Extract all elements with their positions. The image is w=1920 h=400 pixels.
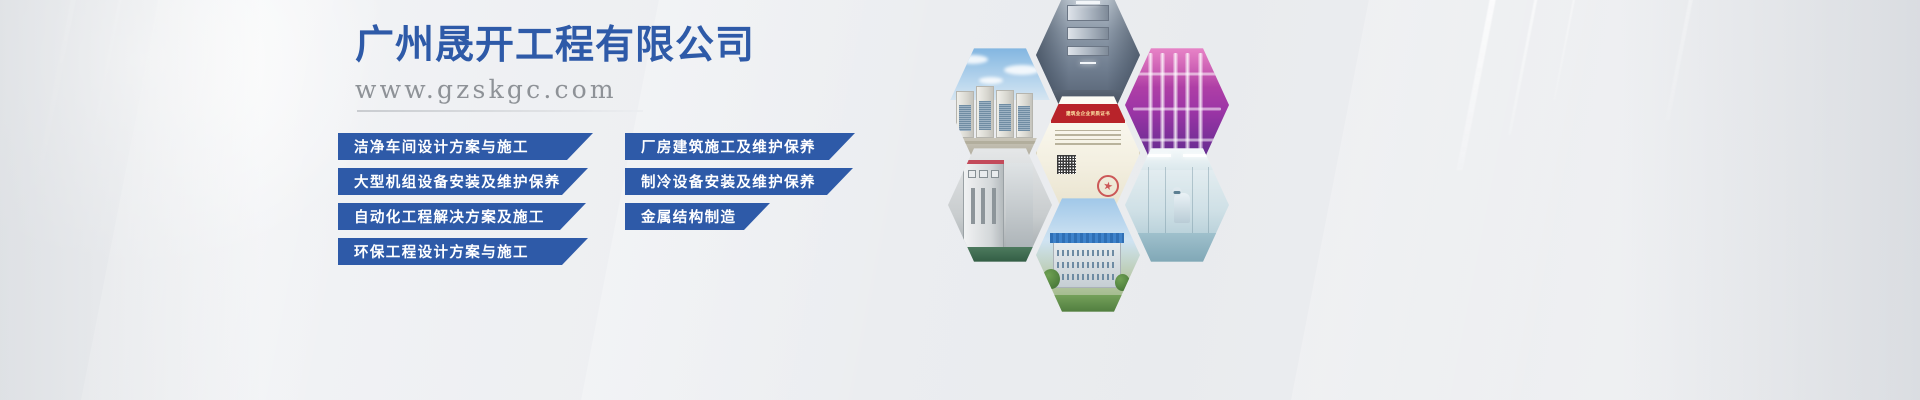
service-ribbon-label: 大型机组设备安装及维护保养 xyxy=(354,171,561,192)
ac-unit xyxy=(996,90,1014,138)
certificate-text-line xyxy=(1055,134,1120,136)
ceiling-light xyxy=(1140,154,1171,157)
panel-switch xyxy=(971,188,975,223)
service-ribbon-cleanroom[interactable]: 洁净车间设计方案与施工 xyxy=(338,133,593,160)
tree-shape xyxy=(1115,274,1130,291)
horizontal-pipe xyxy=(1133,138,1220,142)
cloud-shape xyxy=(979,77,1003,84)
service-ribbon-plant-construction[interactable]: 厂房建筑施工及维护保养 xyxy=(625,133,855,160)
hexagon-photo-cluster: 建筑业企业资质证书 xyxy=(940,0,1260,320)
cleanroom-floor xyxy=(1125,233,1229,264)
service-ribbon-environmental[interactable]: 环保工程设计方案与施工 xyxy=(338,238,588,265)
photo-rooftop-ac-units xyxy=(948,46,1052,164)
hexagon-photo-process-piping xyxy=(1125,46,1229,164)
support-beam xyxy=(952,141,1048,144)
wall-panel-seam xyxy=(1192,167,1193,238)
company-banner: 广州晟开工程有限公司 www.gzskgc.com 洁净车间设计方案与施工 大型… xyxy=(0,0,1920,400)
service-ribbon-group: 洁净车间设计方案与施工 大型机组设备安装及维护保养 自动化工程解决方案及施工 环… xyxy=(338,133,898,283)
service-ribbon-label: 洁净车间设计方案与施工 xyxy=(354,136,529,157)
hexagon-photo-cleanroom xyxy=(1125,146,1229,264)
panel-meter xyxy=(991,170,999,178)
light-streak xyxy=(1553,0,1580,100)
building-window-row xyxy=(1057,262,1117,268)
right-edge-shade xyxy=(1620,0,1920,400)
ac-grille xyxy=(999,104,1011,131)
building-window-row xyxy=(1057,274,1117,280)
service-ribbon-label: 厂房建筑施工及维护保养 xyxy=(641,136,816,157)
cabinet-top-strip xyxy=(963,160,1005,164)
ac-unit xyxy=(1016,93,1034,138)
ac-unit xyxy=(956,91,974,138)
building-window-row xyxy=(1057,250,1117,256)
light-streak xyxy=(40,0,82,160)
website-url[interactable]: www.gzskgc.com xyxy=(355,77,915,102)
cloud-shape xyxy=(1004,65,1040,75)
certificate-text-line xyxy=(1055,139,1120,141)
hexagon-photo-switchgear-cabinet xyxy=(948,146,1052,264)
ac-grille xyxy=(979,101,991,130)
ac-grille xyxy=(959,105,971,131)
certificate-red-seal xyxy=(1097,175,1119,197)
photo-cleanroom-interior xyxy=(1125,146,1229,264)
panel-meter xyxy=(979,170,987,178)
service-ribbon-column-right: 厂房建筑施工及维护保养 制冷设备安装及维护保养 金属结构制造 xyxy=(625,133,855,238)
panel-meter xyxy=(968,170,976,178)
wall-panel-seam xyxy=(1208,167,1209,238)
certificate-text-lines xyxy=(1055,130,1120,148)
company-title: 广州晟开工程有限公司 xyxy=(355,26,915,65)
air-duct xyxy=(1067,46,1109,57)
ac-unit xyxy=(976,86,994,138)
ceiling-light xyxy=(1080,62,1097,64)
left-edge-shade xyxy=(0,0,260,400)
air-duct xyxy=(1067,5,1109,20)
service-ribbon-label: 环保工程设计方案与施工 xyxy=(354,241,529,262)
service-ribbon-column-left: 洁净车间设计方案与施工 大型机组设备安装及维护保养 自动化工程解决方案及施工 环… xyxy=(338,133,593,273)
certificate-text-line xyxy=(1055,143,1120,145)
service-ribbon-large-unit-equipment[interactable]: 大型机组设备安装及维护保养 xyxy=(338,168,588,195)
certificate-text-line xyxy=(1055,130,1120,132)
service-ribbon-label: 自动化工程解决方案及施工 xyxy=(354,206,545,227)
service-ribbon-refrigeration[interactable]: 制冷设备安装及维护保养 xyxy=(625,168,853,195)
photo-switchgear-cabinet xyxy=(948,146,1052,264)
hexagon-photo-rooftop-ac-units xyxy=(948,46,1052,164)
cleanroom-ceiling xyxy=(1125,146,1229,170)
grass-foreground xyxy=(1036,295,1140,314)
air-duct xyxy=(1067,27,1109,40)
cabinet-open-door xyxy=(1006,163,1033,248)
service-ribbon-automation[interactable]: 自动化工程解决方案及施工 xyxy=(338,203,586,230)
title-underline xyxy=(357,110,643,112)
panel-switch xyxy=(981,188,985,223)
worker-figure-body xyxy=(1174,193,1190,223)
certificate-header-text: 建筑业企业资质证书 xyxy=(1066,111,1110,117)
factory-blue-roof xyxy=(1050,233,1125,244)
service-ribbon-metal-structure[interactable]: 金属结构制造 xyxy=(625,203,770,230)
ac-grille xyxy=(1018,106,1030,131)
wall-panel-seam xyxy=(1165,167,1166,238)
service-ribbon-label: 金属结构制造 xyxy=(641,206,736,227)
ceiling-light xyxy=(1183,154,1214,157)
ceiling-light xyxy=(1076,1,1101,4)
diagonal-band xyxy=(1279,0,1640,400)
certificate-qr-code xyxy=(1057,155,1075,174)
service-ribbon-label: 制冷设备安装及维护保养 xyxy=(641,171,816,192)
wall-panel-seam xyxy=(1148,167,1149,238)
panel-switch xyxy=(992,188,996,223)
horizontal-pipe xyxy=(1133,107,1220,111)
light-streak xyxy=(91,0,127,140)
photo-process-piping xyxy=(1125,46,1229,164)
hexagon-photo-certificate: 建筑业企业资质证书 xyxy=(1036,94,1140,212)
hexagon-photo-factory-building xyxy=(1036,196,1140,314)
branding-block: 广州晟开工程有限公司 www.gzskgc.com xyxy=(355,26,915,112)
certificate-header-band: 建筑业企业资质证书 xyxy=(1051,104,1124,123)
horizontal-pipe xyxy=(1133,72,1220,76)
light-streak xyxy=(136,0,165,110)
light-streak xyxy=(1457,0,1502,170)
photo-qualification-certificate: 建筑业企业资质证书 xyxy=(1036,94,1140,212)
photo-blue-roof-factory xyxy=(1036,196,1140,314)
light-streak xyxy=(1665,0,1698,120)
light-streak xyxy=(1508,0,1543,135)
worker-figure-visor xyxy=(1174,191,1181,194)
